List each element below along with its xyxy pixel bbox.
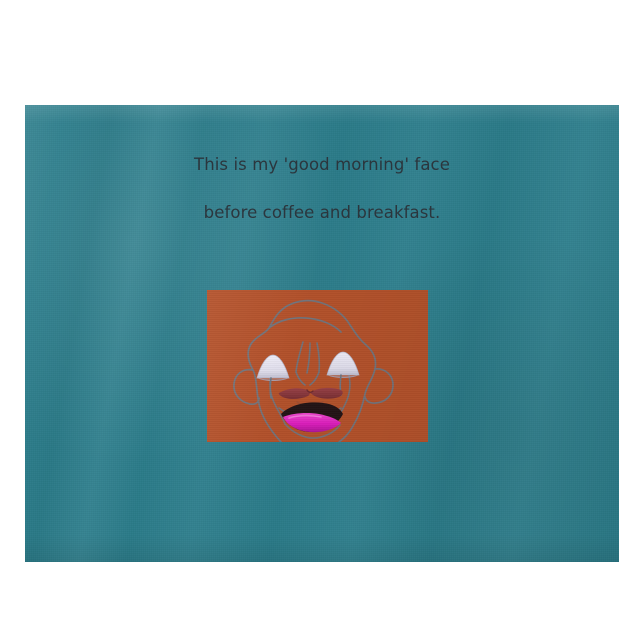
caption-line-2: before coffee and breakfast. xyxy=(25,205,619,222)
printed-caption: This is my 'good morning' face before co… xyxy=(25,157,619,221)
brow-lines xyxy=(296,342,319,385)
screenshot-stage: This is my 'good morning' face before co… xyxy=(0,0,644,644)
nose xyxy=(279,388,343,405)
artwork-panel xyxy=(207,290,428,442)
caption-line-1: This is my 'good morning' face xyxy=(25,157,619,174)
teal-fabric-tablecloth: This is my 'good morning' face before co… xyxy=(25,105,619,562)
tired-face-illustration xyxy=(207,290,428,442)
mouth xyxy=(281,402,343,432)
